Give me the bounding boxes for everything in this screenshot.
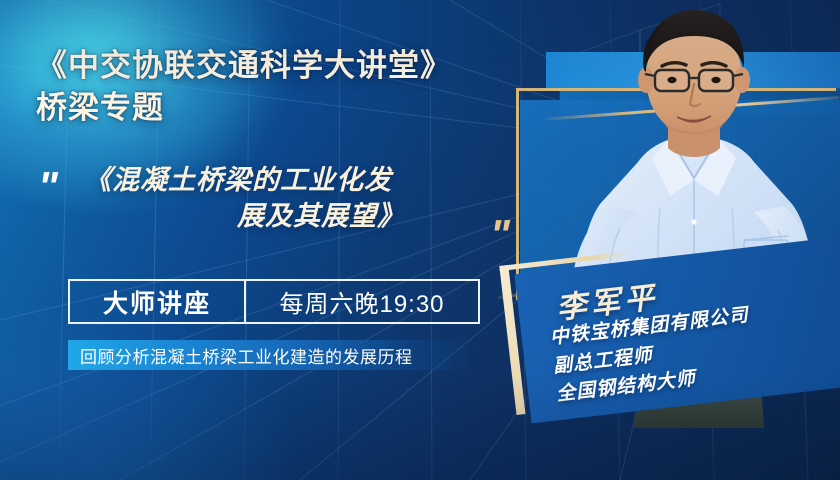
quote-open-mark-icon: " — [38, 166, 54, 208]
poster-canvas: 《中交协联交通科学大讲堂》 桥梁专题 " 《混凝土桥梁的工业化发 展及其展望》 … — [0, 0, 840, 480]
lecture-info-box: 大师讲座 每周六晚19:30 — [68, 279, 480, 324]
page-title: 《中交协联交通科学大讲堂》 桥梁专题 — [36, 48, 506, 125]
lecture-summary-text: 回顾分析混凝土桥梁工业化建造的发展历程 — [68, 343, 413, 368]
lecture-title-text: 《混凝土桥梁的工业化发 展及其展望》 — [84, 162, 504, 234]
lecture-title-line-1: 《混凝土桥梁的工业化发 — [84, 162, 504, 198]
speaker-info-panel: 李军平 中铁宝桥集团有限公司 副总工程师 全国钢结构大师 — [500, 232, 840, 447]
lecture-schedule-label: 每周六晚19:30 — [246, 281, 478, 322]
blue-glow-bottom-left — [0, 300, 300, 480]
lecture-summary-bar: 回顾分析混凝土桥梁工业化建造的发展历程 — [68, 340, 470, 370]
lecture-title-line-2: 展及其展望》 — [84, 198, 504, 234]
headline-line-2: 桥梁专题 — [36, 90, 506, 126]
lecture-title-quote: " 《混凝土桥梁的工业化发 展及其展望》 " — [36, 166, 516, 266]
quote-close-mark-icon: " — [490, 214, 506, 256]
headline-line-1: 《中交协联交通科学大讲堂》 — [36, 48, 506, 84]
lecture-series-label: 大师讲座 — [70, 281, 246, 322]
